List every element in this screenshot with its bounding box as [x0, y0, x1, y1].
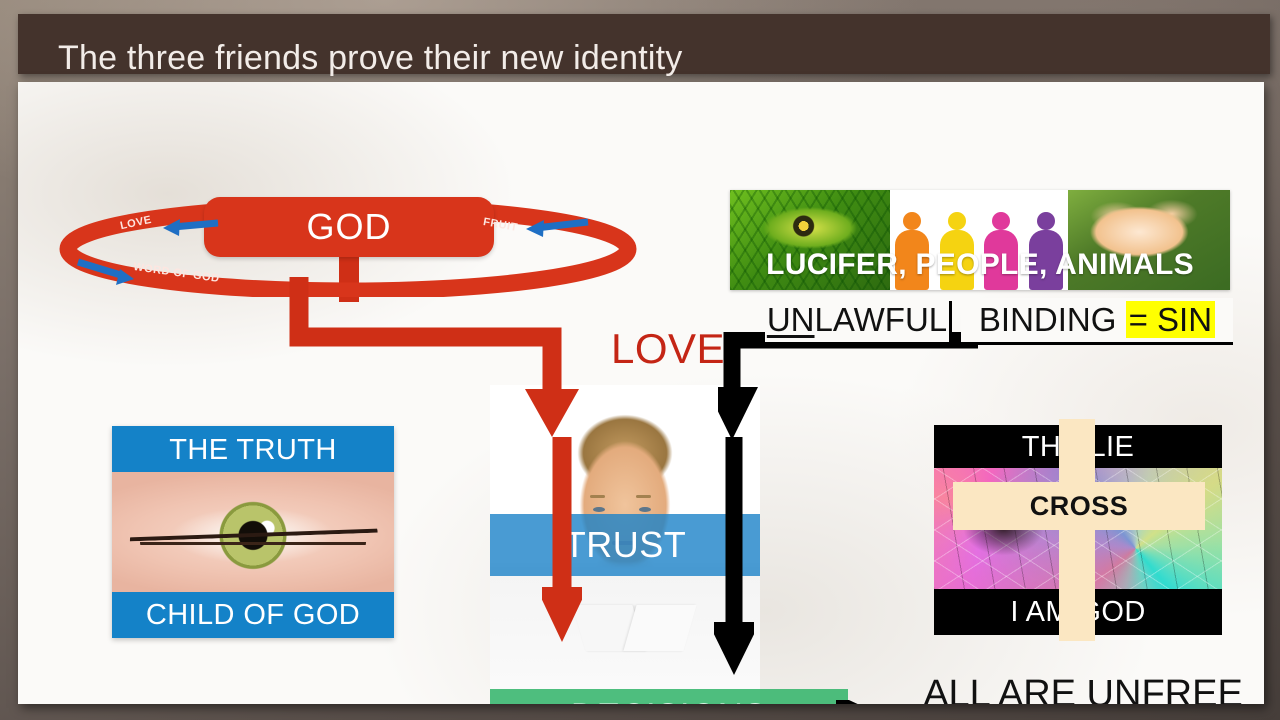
- lucifer-people-animals-label: LUCIFER, PEOPLE, ANIMALS: [730, 248, 1230, 282]
- slide-canvas: GOD LOVE FRUIT WORD OF GOD: [18, 82, 1264, 704]
- binding-sin-box: BINDING = SIN: [961, 298, 1233, 342]
- conclusion-text: ALL ARE UNFREE AND WRONG: [918, 670, 1248, 704]
- unlawful-box: UNLAWFUL: [765, 298, 949, 342]
- trust-label: TRUST: [564, 524, 687, 566]
- binding-label: BINDING = SIN: [979, 301, 1215, 339]
- black-arrow-lower-segment: [714, 437, 754, 702]
- eyebrow-left: [590, 495, 605, 498]
- love-flow-label: LOVE: [611, 325, 725, 373]
- truth-panel: THE TRUTH CHILD OF GOD: [112, 426, 394, 638]
- black-unlawful-flow-arrow: [718, 332, 978, 442]
- conclusion-prefix: ALL ARE: [923, 673, 1086, 704]
- cross-vertical-bar: [1059, 419, 1095, 641]
- binding-text: BINDING: [979, 301, 1126, 338]
- cross-label: CROSS: [1030, 491, 1129, 522]
- unlawful-label: UNLAWFUL: [767, 301, 947, 339]
- god-label: GOD: [306, 206, 391, 248]
- god-label-box: GOD: [204, 197, 494, 257]
- conclusion-underlined: UN: [1087, 673, 1142, 704]
- conclusion-line-1: ALL ARE UNFREE: [918, 670, 1248, 704]
- unlawful-prefix: UN: [767, 301, 815, 338]
- eye-left: [593, 507, 605, 512]
- unlawful-rest: LAWFUL: [815, 301, 948, 338]
- cross-horizontal-bar: CROSS: [953, 482, 1205, 530]
- the-truth-label: THE TRUTH: [169, 434, 336, 467]
- red-love-flow-arrow: [288, 277, 618, 437]
- child-of-god-band: CHILD OF GOD: [112, 592, 394, 638]
- page-title: The three friends prove their new identi…: [58, 38, 683, 78]
- decisions-to-result-arrow: [718, 700, 898, 704]
- shirt-collar-right: [624, 605, 697, 651]
- conclusion-suffix: FREE: [1141, 673, 1242, 704]
- sin-highlight: = SIN: [1126, 301, 1215, 338]
- eyebrow-right: [636, 495, 651, 498]
- red-arrow-lower-segment: [542, 437, 582, 672]
- eye-right: [639, 507, 651, 512]
- green-eye-image: [112, 472, 394, 594]
- title-bar: The three friends prove their new identi…: [18, 14, 1270, 74]
- child-of-god-label: CHILD OF GOD: [146, 599, 360, 632]
